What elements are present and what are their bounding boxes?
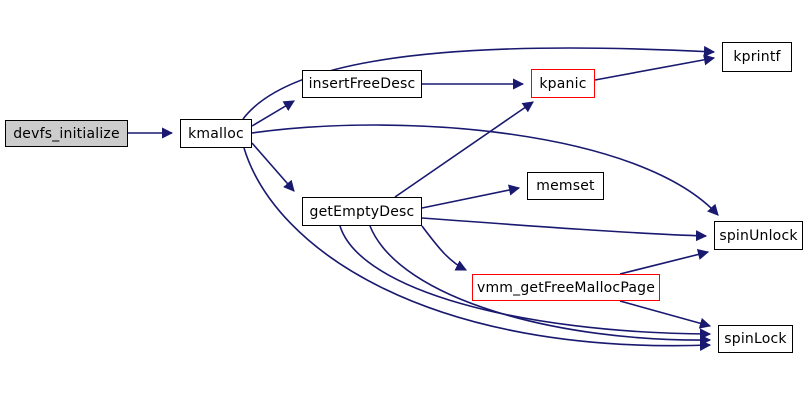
node-label-vmm_getFreeMallocPage: vmm_getFreeMallocPage <box>477 280 655 296</box>
node-label-kprintf: kprintf <box>733 49 780 65</box>
node-kpanic[interactable]: kpanic <box>531 69 595 98</box>
node-vmm_getFreeMallocPage[interactable]: vmm_getFreeMallocPage <box>472 274 660 301</box>
edge-kmalloc-to-spinLock <box>244 148 710 346</box>
edge-getEmptyDesc-to-memset <box>422 188 519 208</box>
node-label-kmalloc: kmalloc <box>188 126 244 142</box>
edge-getEmptyDesc-to-kpanic <box>395 102 533 197</box>
node-getEmptyDesc[interactable]: getEmptyDesc <box>302 197 422 226</box>
node-label-devfs_initialize: devfs_initialize <box>13 126 120 142</box>
edge-getEmptyDesc-to-vmm_getFreeMallocPage <box>422 226 466 270</box>
node-spinLock[interactable]: spinLock <box>718 325 793 353</box>
node-label-memset: memset <box>536 178 595 194</box>
node-memset[interactable]: memset <box>527 172 604 200</box>
node-label-kpanic: kpanic <box>539 76 586 92</box>
node-label-spinUnlock: spinUnlock <box>719 228 797 244</box>
call-graph-canvas: devfs_initializekmallocinsertFreeDesckpa… <box>0 0 808 407</box>
node-insertFreeDesc[interactable]: insertFreeDesc <box>302 70 422 98</box>
node-label-spinLock: spinLock <box>724 331 786 347</box>
node-kprintf[interactable]: kprintf <box>722 42 792 72</box>
node-label-insertFreeDesc: insertFreeDesc <box>309 76 416 92</box>
node-kmalloc[interactable]: kmalloc <box>180 119 252 148</box>
edge-kpanic-to-kprintf <box>595 58 714 80</box>
edge-kmalloc-to-insertFreeDesc <box>252 101 294 126</box>
node-label-getEmptyDesc: getEmptyDesc <box>310 204 415 220</box>
edge-kmalloc-to-getEmptyDesc <box>252 143 294 191</box>
edge-getEmptyDesc-to-spinUnlock <box>422 218 706 236</box>
edge-vmm_getFreeMallocPage-to-spinLock <box>620 301 710 326</box>
node-spinUnlock[interactable]: spinUnlock <box>714 221 803 250</box>
edge-vmm_getFreeMallocPage-to-spinUnlock <box>620 252 708 274</box>
node-devfs_initialize[interactable]: devfs_initialize <box>5 120 128 147</box>
